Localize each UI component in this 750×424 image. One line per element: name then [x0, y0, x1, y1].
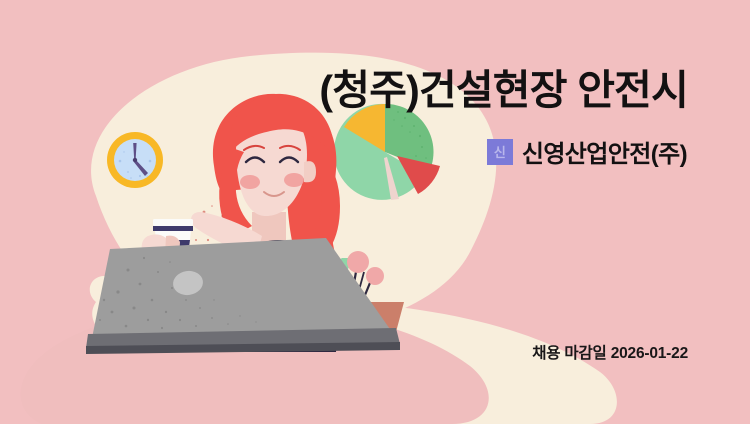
application-deadline: 채용 마감일 2026-01-22 — [532, 341, 688, 363]
clock-illustration — [107, 132, 163, 188]
company-row: 신 신영산업안전(주) — [487, 134, 687, 169]
company-name: 신영산업안전(주) — [522, 134, 687, 169]
page-title: (청주)건설현장 안전시 — [48, 68, 688, 114]
job-posting-banner: (청주)건설현장 안전시 신 신영산업안전(주) 채용 마감일 2026-01-… — [0, 0, 750, 424]
company-logo-badge: 신 — [487, 139, 513, 165]
